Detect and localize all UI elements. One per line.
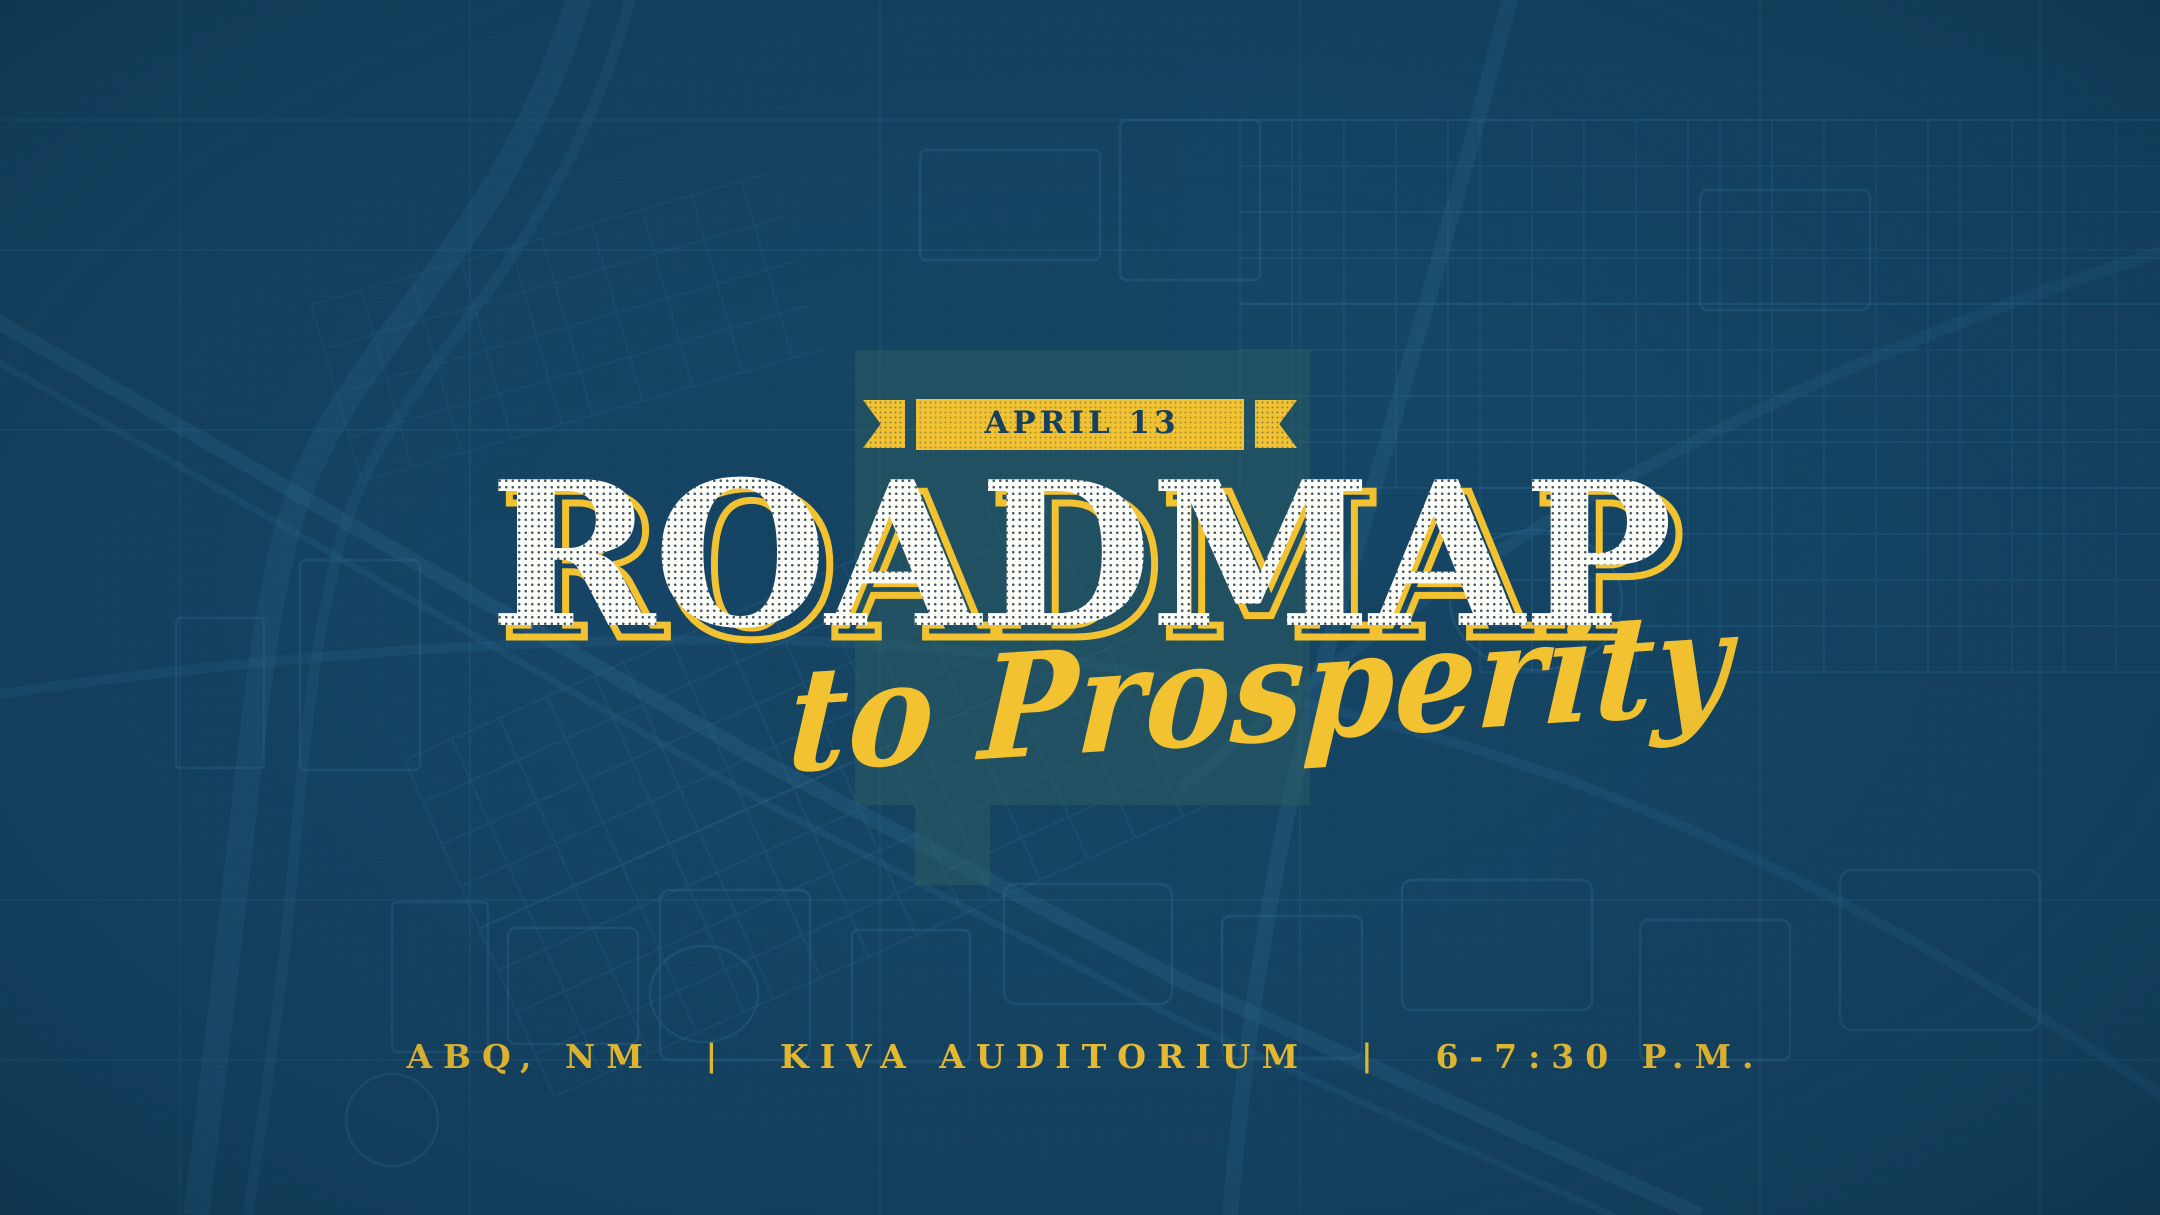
details-separator: |	[1309, 1041, 1424, 1072]
event-time: 6-7:30 P.M.	[1424, 1040, 1764, 1073]
event-date: APRIL 13	[946, 408, 1214, 439]
poster-content: APRIL 13 ROADMAP ROADMAP ROADMAP to Pros…	[0, 0, 2160, 1215]
headline-roadmap: ROADMAP ROADMAP ROADMAP	[489, 470, 1671, 642]
headline-block: ROADMAP ROADMAP ROADMAP	[0, 470, 2160, 642]
event-venue: KIVA AUDITORIUM	[769, 1040, 1309, 1073]
headline-text: ROADMAP	[489, 438, 1671, 673]
event-location: ABQ, NM	[395, 1040, 653, 1073]
event-details-bar: ABQ, NM | KIVA AUDITORIUM | 6-7:30 P.M.	[0, 1040, 2160, 1073]
details-separator: |	[654, 1041, 769, 1072]
event-poster: APRIL 13 ROADMAP ROADMAP ROADMAP to Pros…	[0, 0, 2160, 1215]
